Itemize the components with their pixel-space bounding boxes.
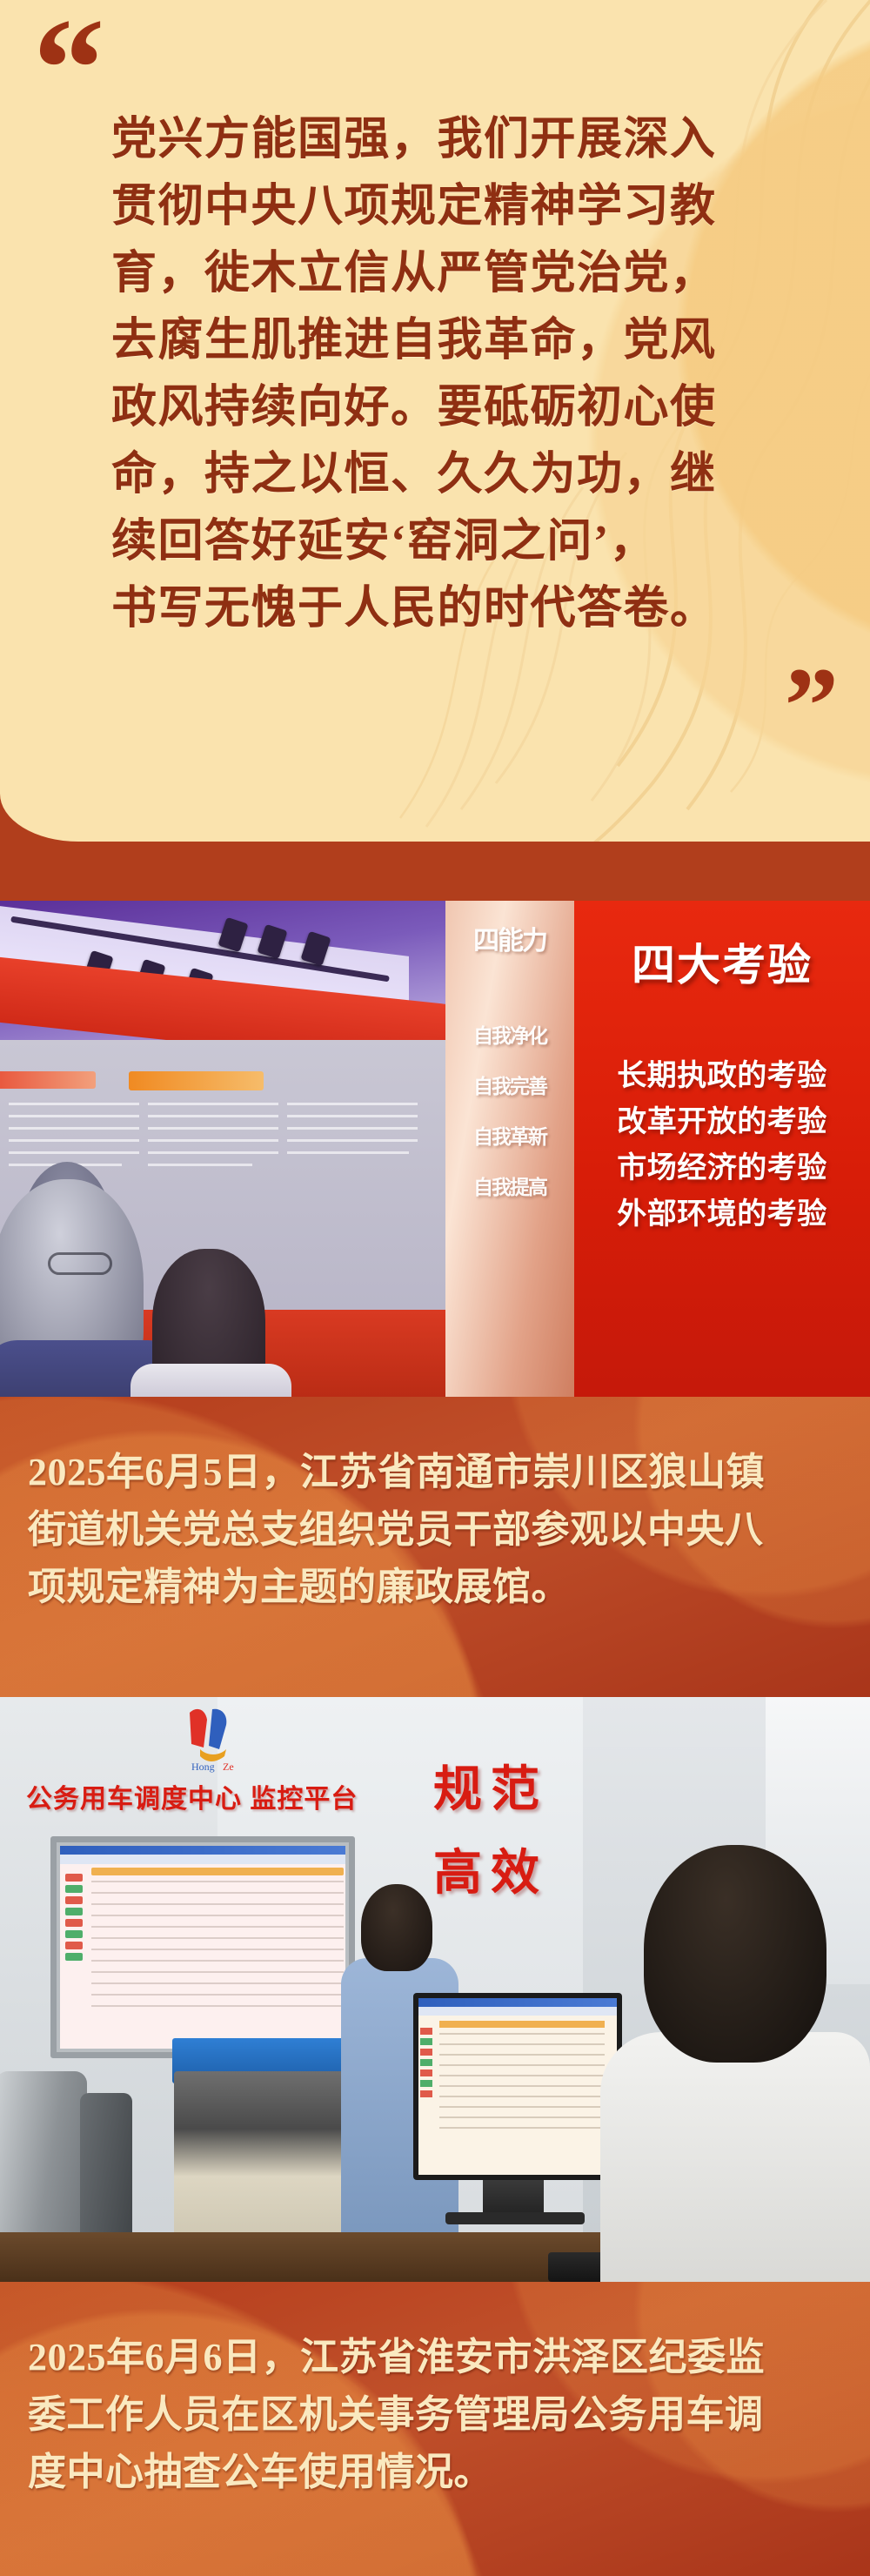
board-textline [148, 1164, 252, 1166]
pillar-line: 自我完善 [445, 1047, 574, 1097]
caption-line: 街道机关党总支组织党员干部参观以中央八 [28, 1501, 846, 1559]
caption-body: 2025年6月5日，江苏省南通市崇川区狼山镇 街道机关党总支组织党员干部参观以中… [28, 1444, 846, 1616]
exhibit-headline: 四大考验 [574, 930, 870, 993]
agency-logo-icon: Hong Ze [174, 1706, 252, 1775]
exhibit-list-item: 外部环境的考验 [574, 1191, 870, 1238]
quote-line: 贯彻中央八项规定精神学习教 [111, 173, 757, 240]
wall-title: 公务用车调度中心 监控平台 [26, 1777, 358, 1815]
pillar-line: 自我革新 [445, 1097, 574, 1148]
quote-line: 政风持续向好。要砥砺初心使 [111, 374, 757, 441]
svg-text:Hong: Hong [191, 1761, 215, 1773]
closing-quote-icon: ” [785, 653, 834, 761]
board-screen [60, 1846, 345, 2049]
quote-line: 续回答好延安‘窑洞之问’， [111, 508, 757, 575]
visitor-body [130, 1364, 291, 1397]
inspector-body [600, 2032, 870, 2282]
caption-line: 2025年6月5日，江苏省南通市崇川区狼山镇 [28, 1444, 846, 1501]
board-textline [148, 1151, 278, 1154]
caption-photo-1: 2025年6月5日，江苏省南通市崇川区狼山镇 街道机关党总支组织党员干部参观以中… [0, 1397, 870, 1697]
pillar-text-block: 四能力 自我净化 自我完善 自我革新 自我提高 [445, 901, 574, 1397]
slogan-line: 高效 [433, 1831, 572, 1915]
quote-line: 去腐生肌推进自我革命，党风 [111, 307, 757, 374]
pillar-line: 自我净化 [445, 956, 574, 1047]
board-textline [9, 1127, 139, 1130]
quote-section: “ 党兴方能国强，我们开展深入 贯彻中央八项规定精神学习教 育，徙木立信从严管党… [0, 0, 870, 870]
quote-body: 党兴方能国强，我们开展深入 贯彻中央八项规定精神学习教 育，徙木立信从严管党治党… [111, 106, 757, 642]
exhibit-list: 长期执政的考验 改革开放的考验 市场经济的考验 外部环境的考验 [574, 1053, 870, 1238]
board-textline [9, 1115, 139, 1117]
board-textline [9, 1151, 139, 1154]
eyeglasses-icon [48, 1252, 112, 1275]
poster-root: “ 党兴方能国强，我们开展深入 贯彻中央八项规定精神学习教 育，徙木立信从严管党… [0, 0, 870, 2576]
caption-line: 委工作人员在区机关事务管理局公务用车调 [28, 2386, 846, 2444]
quote-line: 命，持之以恒、久久为功，继 [111, 441, 757, 508]
svg-text:Ze: Ze [223, 1761, 234, 1773]
exhibit-pillar: 四能力 自我净化 自我完善 自我革新 自我提高 [445, 901, 574, 1397]
pillar-line: 自我提高 [445, 1148, 574, 1198]
app-titlebar [60, 1846, 345, 1855]
photo-exhibition-hall: 四能力 自我净化 自我完善 自我革新 自我提高 四大考验 长期执政的考验 改革开… [0, 901, 870, 1397]
board-textline [9, 1103, 139, 1105]
monitor-base [445, 2212, 585, 2224]
caption-line: 度中心抽查公车使用情况。 [28, 2444, 846, 2501]
board-textline [148, 1115, 278, 1117]
board-textline [148, 1127, 278, 1130]
desktop-monitor [413, 1993, 622, 2180]
caption-line: 2025年6月6日，江苏省淮安市洪泽区纪委监 [28, 2329, 846, 2386]
board-textline [287, 1139, 418, 1142]
board-textline [287, 1127, 418, 1130]
pillar-line: 四能力 [445, 901, 574, 956]
wall-slogan: 规范 高效 [433, 1748, 572, 1915]
inspector-head [644, 1845, 826, 2063]
exhibit-red-panel: 四大考验 长期执政的考验 改革开放的考验 市场经济的考验 外部环境的考验 [574, 901, 870, 1397]
photo-dispatch-center: Hong Ze 公务用车调度中心 监控平台 规范 高效 [0, 1697, 870, 2282]
board-textline [287, 1151, 409, 1154]
slogan-line: 规范 [433, 1748, 572, 1831]
exhibit-list-item: 市场经济的考验 [574, 1145, 870, 1191]
exhibit-list-item: 改革开放的考验 [574, 1099, 870, 1145]
opening-quote-icon: “ [33, 0, 100, 140]
caption-line: 项规定精神为主题的廉政展馆。 [28, 1559, 846, 1616]
app-toolbar [60, 1855, 345, 1864]
board-textline [287, 1115, 418, 1117]
quote-line: 育，徙木立信从严管党治党， [111, 240, 757, 307]
caption-photo-2: 2025年6月6日，江苏省淮安市洪泽区纪委监 委工作人员在区机关事务管理局公务用… [0, 2282, 870, 2576]
quote-line: 书写无愧于人民的时代答卷。 [111, 575, 757, 642]
board-badge [129, 1071, 264, 1090]
quote-card: “ 党兴方能国强，我们开展深入 贯彻中央八项规定精神学习教 育，徙木立信从严管党… [0, 0, 870, 842]
board-textline [287, 1103, 418, 1105]
board-textline [9, 1139, 139, 1142]
board-textline [148, 1103, 278, 1105]
quote-line: 党兴方能国强，我们开展深入 [111, 106, 757, 173]
projection-board [50, 1836, 355, 2058]
officer-head [361, 1884, 432, 1971]
monitor-screen [418, 1998, 617, 2175]
monitor-stand [483, 2180, 544, 2217]
board-badge [0, 1071, 96, 1089]
exhibit-list-item: 长期执政的考验 [574, 1053, 870, 1099]
board-textline [148, 1139, 278, 1142]
caption-body: 2025年6月6日，江苏省淮安市洪泽区纪委监 委工作人员在区机关事务管理局公务用… [28, 2329, 846, 2501]
